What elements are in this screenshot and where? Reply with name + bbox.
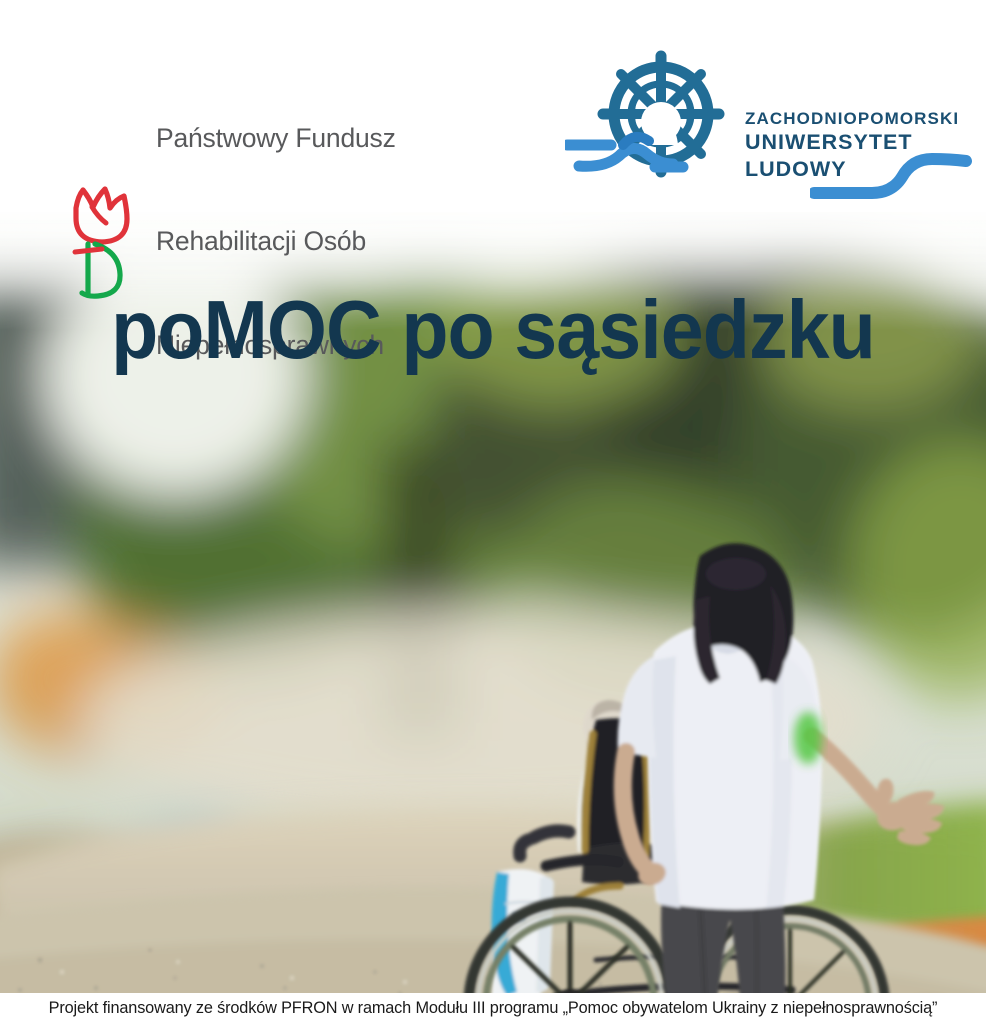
pfron-line-2: Rehabilitacji Osób bbox=[156, 224, 396, 258]
header-logo-band: Państwowy Fundusz Rehabilitacji Osób Nie… bbox=[0, 0, 986, 212]
pfron-line-1: Państwowy Fundusz bbox=[156, 121, 396, 155]
zul-logo: ZACHODNIOPOMORSKI UNIWERSYTET LUDOWY bbox=[565, 50, 965, 190]
ships-wheel-icon bbox=[565, 50, 765, 185]
funding-statement: Projekt finansowany ze środków PFRON w r… bbox=[49, 999, 938, 1018]
zul-line-1: ZACHODNIOPOMORSKI bbox=[745, 108, 959, 129]
poster: Państwowy Fundusz Rehabilitacji Osób Nie… bbox=[0, 0, 986, 1024]
page-title: poMOC po sąsiedzku bbox=[35, 288, 952, 371]
wave-swoosh-icon bbox=[810, 145, 975, 205]
footer-band: Projekt finansowany ze środków PFRON w r… bbox=[0, 993, 986, 1024]
